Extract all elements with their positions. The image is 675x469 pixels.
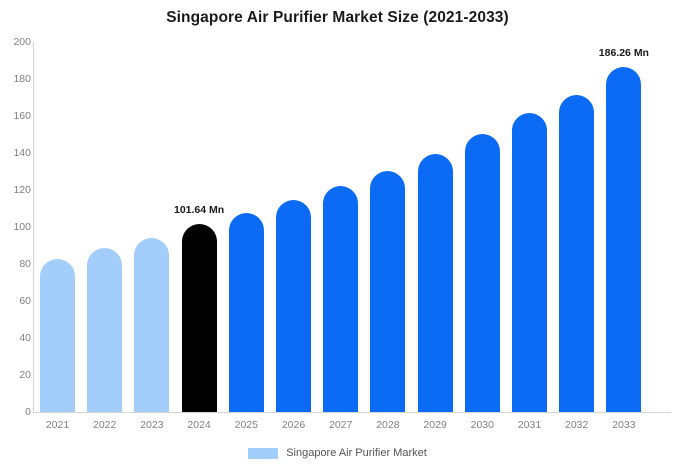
bar-value-label: 101.64 Mn [149,204,249,216]
bars-layer: 2021202220232024101.64 Mn202520262027202… [0,0,675,469]
bar[interactable] [323,186,358,412]
bar[interactable] [418,154,453,412]
bar[interactable] [40,259,75,412]
bar[interactable] [370,171,405,412]
bar[interactable] [465,134,500,412]
legend-label: Singapore Air Purifier Market [286,447,427,459]
bar[interactable] [276,200,311,412]
bar-value-label: 186.26 Mn [574,47,674,59]
legend-swatch [248,448,278,459]
bar[interactable] [87,248,122,412]
bar[interactable] [134,238,169,412]
chart-container: Singapore Air Purifier Market Size (2021… [0,0,675,469]
bar[interactable] [559,95,594,412]
bar[interactable] [512,113,547,412]
bar[interactable] [229,213,264,412]
x-axis-tick: 2033 [596,419,652,431]
chart-legend: Singapore Air Purifier Market [0,447,675,459]
bar[interactable] [182,224,217,412]
bar[interactable] [606,67,641,412]
